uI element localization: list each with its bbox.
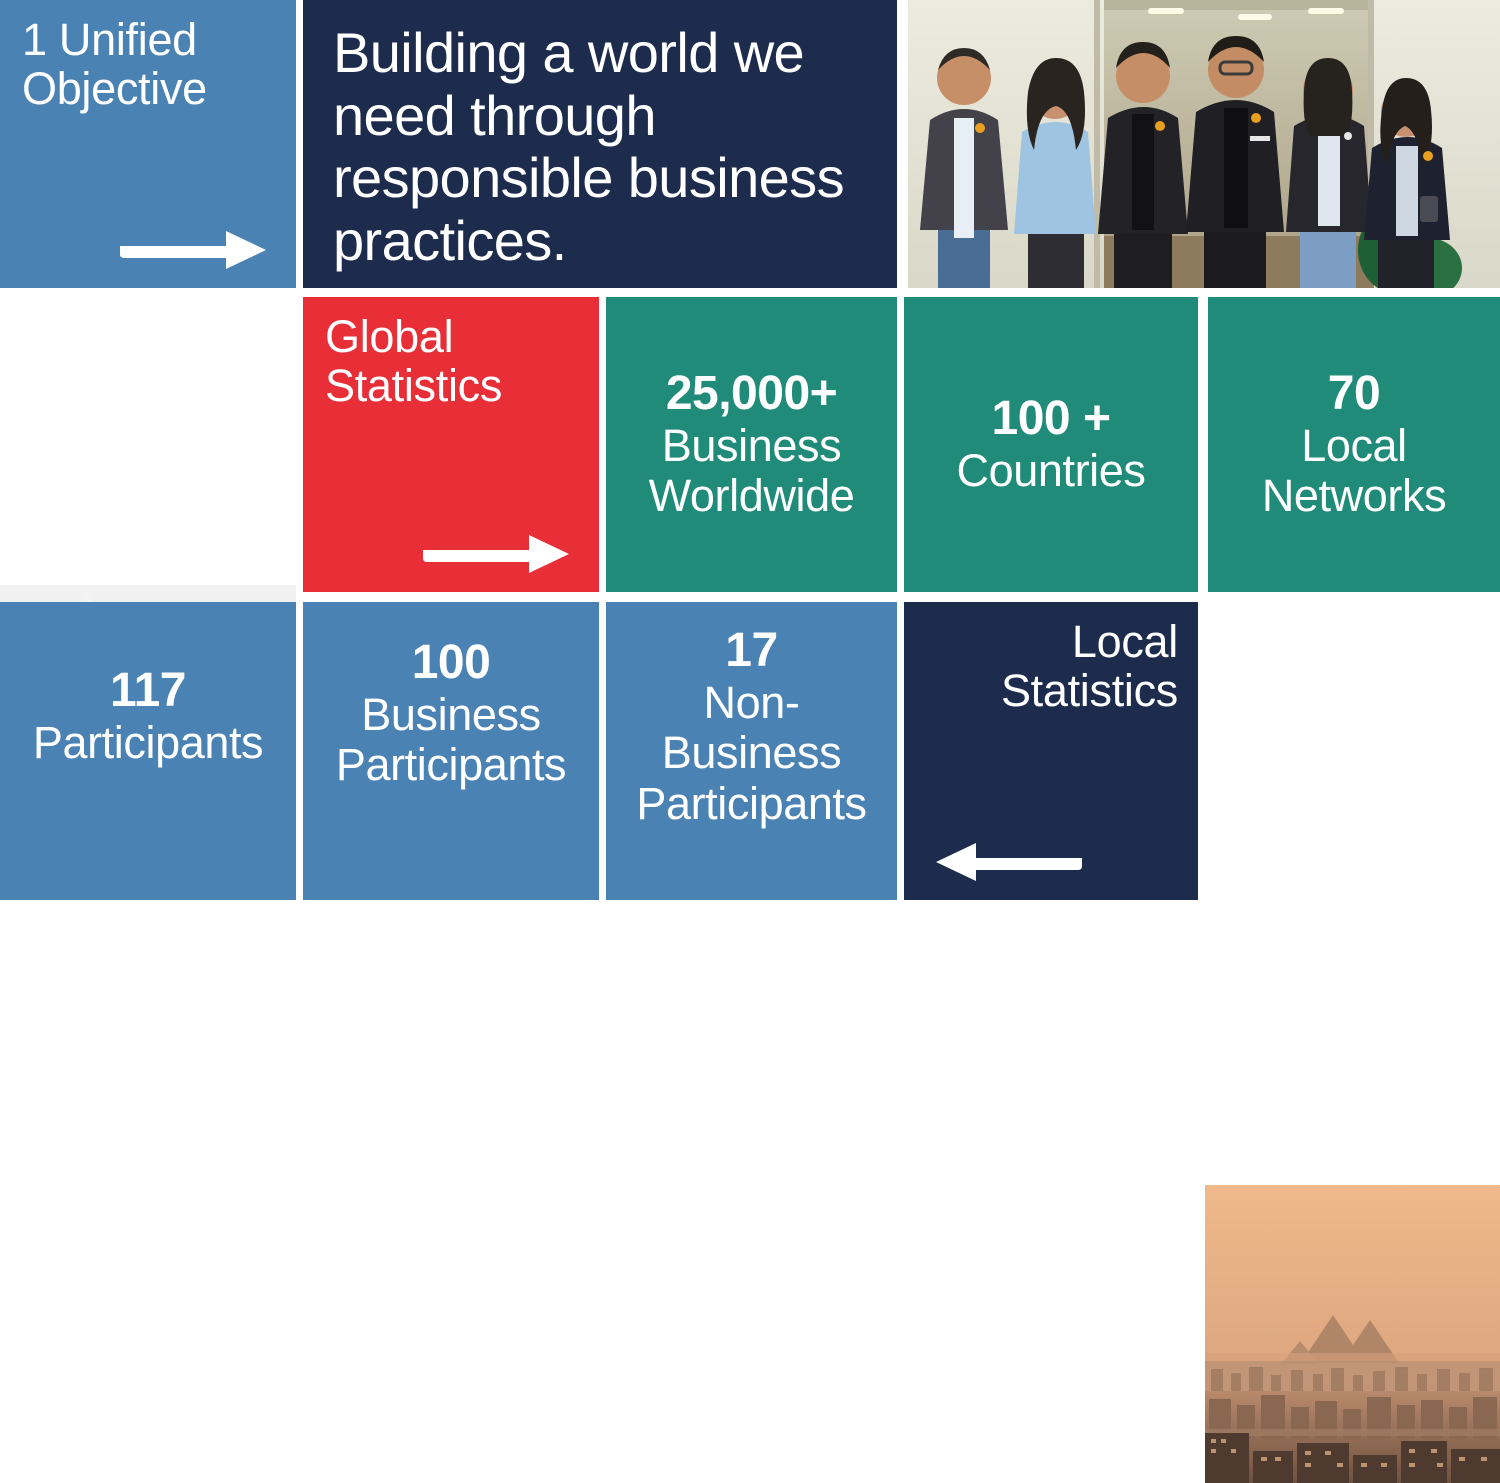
stat-caption: Non- Business Participants bbox=[618, 678, 885, 829]
local-statistics-label: Local Statistics bbox=[926, 618, 1178, 715]
arrow-right-icon bbox=[118, 228, 268, 270]
stat-number: 17 bbox=[725, 624, 777, 678]
cairo-skyline-illustration bbox=[1205, 1185, 1500, 1483]
unified-objective-label: 1 Unified Objective bbox=[22, 16, 276, 113]
stat-caption: Business Participants bbox=[315, 690, 587, 791]
stat-number: 70 bbox=[1328, 367, 1380, 421]
photo-cairo-skyline bbox=[1205, 1185, 1500, 1483]
stat-participants: 117 Participants bbox=[0, 602, 296, 900]
stat-countries: 100 + Countries bbox=[904, 297, 1198, 592]
stat-number: 117 bbox=[110, 664, 186, 718]
stat-caption: Participants bbox=[33, 718, 263, 768]
tile-local-statistics-label[interactable]: Local Statistics bbox=[904, 602, 1198, 900]
tile-headline: Building a world we need through respons… bbox=[303, 0, 897, 288]
stat-caption: Business Worldwide bbox=[618, 421, 885, 522]
arrow-left-icon bbox=[934, 840, 1084, 882]
stat-caption: Local Networks bbox=[1220, 421, 1488, 522]
stat-number: 25,000+ bbox=[666, 367, 837, 421]
stat-caption: Countries bbox=[957, 446, 1146, 496]
tile-global-statistics-label[interactable]: Global Statistics bbox=[303, 297, 599, 592]
stat-number: 100 bbox=[412, 636, 491, 690]
group-photo-illustration bbox=[908, 0, 1500, 288]
infographic-board: 1 Unified Objective Building a world we … bbox=[0, 0, 1500, 900]
global-statistics-label: Global Statistics bbox=[325, 313, 579, 410]
tile-unified-objective[interactable]: 1 Unified Objective bbox=[0, 0, 296, 288]
stat-non-business-participants: 17 Non- Business Participants bbox=[606, 602, 897, 900]
stat-business-participants: 100 Business Participants bbox=[303, 602, 599, 900]
stat-local-networks: 70 Local Networks bbox=[1208, 297, 1500, 592]
stat-number: 100 + bbox=[992, 392, 1111, 446]
stat-business-worldwide: 25,000+ Business Worldwide bbox=[606, 297, 897, 592]
arrow-right-icon bbox=[421, 532, 571, 574]
headline-text: Building a world we need through respons… bbox=[333, 22, 867, 273]
photo-group-of-people bbox=[908, 0, 1500, 288]
